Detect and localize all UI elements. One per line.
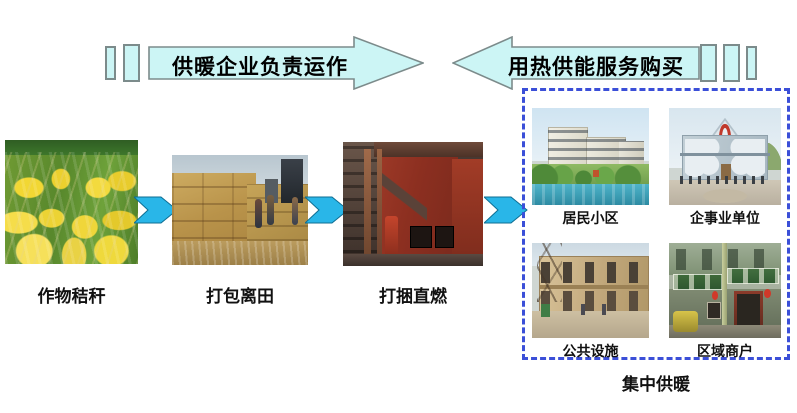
institution-building-photo	[669, 108, 781, 205]
banner-dash-right-1	[700, 44, 717, 82]
biomass-boiler-photo	[343, 142, 483, 266]
caption-public-facility: 公共设施	[532, 341, 649, 361]
banner-dash-right-3	[746, 46, 757, 80]
banner-dash-right-2	[723, 44, 740, 82]
corn-field-photo	[5, 140, 138, 264]
caption-residential-complex: 居民小区	[532, 208, 649, 228]
public-facility-photo	[532, 243, 649, 338]
banner-label-left: 供暖企业负责运作	[172, 51, 348, 81]
caption-institution: 企事业单位	[665, 208, 785, 228]
caption-local-merchants: 区域商户	[669, 341, 781, 361]
caption-direct-burning: 打捆直燃	[343, 282, 483, 307]
banner-dash-left-2	[123, 44, 140, 82]
diagram-canvas: 供暖企业负责运作 用热供能服务购买 作物秸秆	[0, 0, 797, 413]
central-heating-title: 集中供暖	[522, 370, 790, 395]
banner-label-right: 用热供能服务购买	[508, 51, 684, 81]
caption-crop-straw: 作物秸秆	[5, 282, 138, 307]
residential-complex-photo	[532, 108, 649, 205]
caption-baling-removal: 打包离田	[172, 282, 308, 307]
straw-bales-photo	[172, 155, 308, 265]
banner-dash-left-1	[105, 46, 116, 80]
local-merchants-photo	[669, 243, 781, 338]
